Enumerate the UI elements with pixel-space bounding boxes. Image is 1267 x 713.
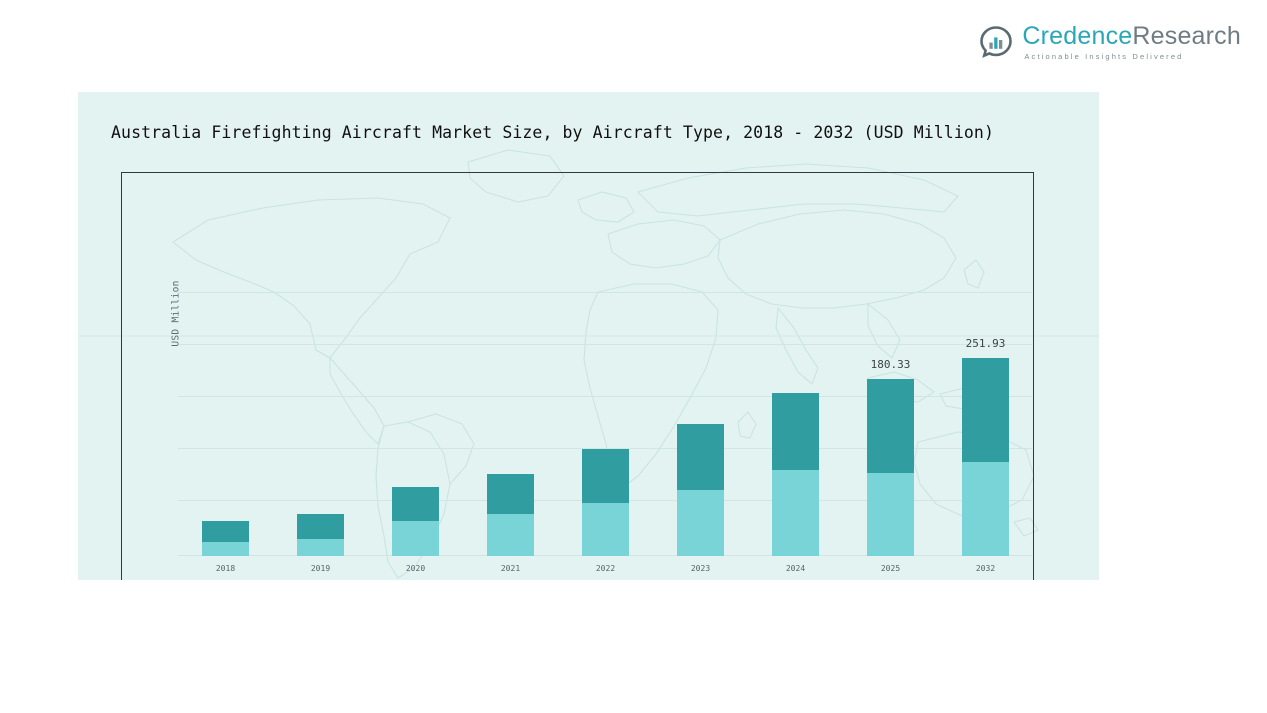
bar-group[interactable]: 2022 <box>582 449 629 556</box>
bar-group[interactable]: 2018 <box>202 521 249 556</box>
bar-group[interactable]: 2019 <box>297 514 344 556</box>
x-axis-label: 2025 <box>881 564 900 573</box>
plot-area: USD Million 2018 2019 2020 <box>121 172 1034 580</box>
chart-title: Australia Firefighting Aircraft Market S… <box>111 123 994 142</box>
bar-segment-fixed-wing[interactable] <box>392 487 439 521</box>
brand-text: CredenceResearch Actionable Insights Del… <box>1022 24 1241 61</box>
brand-tagline: Actionable Insights Delivered <box>1024 53 1241 61</box>
bar-group[interactable]: 180.33 2025 <box>867 379 914 556</box>
bar-segment-fixed-wing[interactable] <box>582 449 629 503</box>
bar-segment-fixed-wing[interactable] <box>867 379 914 473</box>
bar-total-label: 180.33 <box>871 358 911 371</box>
bar-total-label: 251.93 <box>966 337 1006 350</box>
credence-logo-icon <box>979 25 1013 59</box>
bar-segment-rotorcraft[interactable] <box>867 473 914 556</box>
bar-segment-rotorcraft[interactable] <box>487 514 534 556</box>
bar-segment-fixed-wing[interactable] <box>202 521 249 542</box>
x-axis-label: 2032 <box>976 564 995 573</box>
brand-name-credence: Credence <box>1022 22 1132 50</box>
x-axis-label: 2023 <box>691 564 710 573</box>
bar-segment-fixed-wing[interactable] <box>297 514 344 539</box>
brand-name: CredenceResearch <box>1022 24 1241 49</box>
bar-group[interactable]: 251.93 2032 <box>962 358 1009 556</box>
bar-segment-rotorcraft[interactable] <box>297 539 344 556</box>
brand-name-research: Research <box>1132 22 1241 50</box>
bar-segment-fixed-wing[interactable] <box>772 393 819 470</box>
bar-segment-rotorcraft[interactable] <box>962 462 1009 556</box>
bar-segment-fixed-wing[interactable] <box>962 358 1009 462</box>
bar-group[interactable]: 2023 <box>677 424 724 556</box>
bar-group[interactable]: 2020 <box>392 487 439 556</box>
x-axis-label: 2022 <box>596 564 615 573</box>
bar-segment-rotorcraft[interactable] <box>392 521 439 556</box>
bar-group[interactable]: 2024 <box>772 393 819 556</box>
bar-group[interactable]: 2021 <box>487 474 534 556</box>
bar-segment-rotorcraft[interactable] <box>772 470 819 556</box>
bars-layer: 2018 2019 2020 2021 <box>178 173 1025 580</box>
x-axis-label: 2019 <box>311 564 330 573</box>
bar-segment-rotorcraft[interactable] <box>582 503 629 556</box>
bar-segment-rotorcraft[interactable] <box>202 542 249 556</box>
x-axis-label: 2021 <box>501 564 520 573</box>
bar-segment-fixed-wing[interactable] <box>677 424 724 490</box>
x-axis-label: 2020 <box>406 564 425 573</box>
x-axis-label: 2024 <box>786 564 805 573</box>
x-axis-label: 2018 <box>216 564 235 573</box>
chart-panel: Australia Firefighting Aircraft Market S… <box>78 92 1099 580</box>
brand-header: CredenceResearch Actionable Insights Del… <box>979 24 1241 61</box>
bar-segment-fixed-wing[interactable] <box>487 474 534 514</box>
bar-segment-rotorcraft[interactable] <box>677 490 724 556</box>
